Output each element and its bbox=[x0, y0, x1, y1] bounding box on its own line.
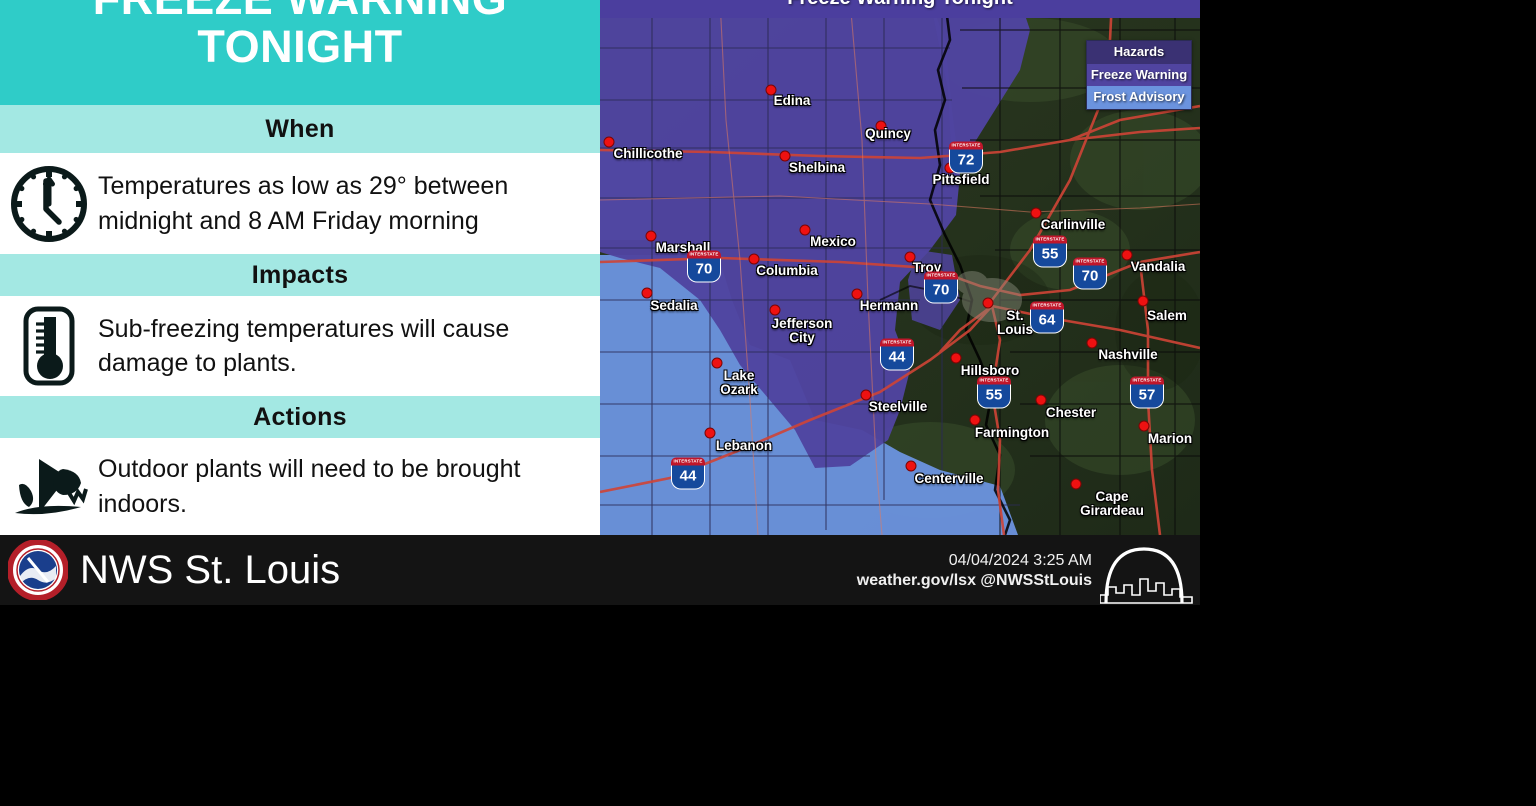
shield-route-number: 55 bbox=[977, 385, 1011, 409]
gateway-arch-icon bbox=[1100, 543, 1200, 605]
city-dot bbox=[770, 305, 781, 316]
alert-headline-band: FREEZE WARNING TONIGHT bbox=[0, 0, 600, 105]
section-heading-when: When bbox=[0, 105, 600, 153]
city-dot bbox=[749, 254, 760, 265]
city-dot bbox=[1036, 395, 1047, 406]
legend-item-frost-advisory[interactable]: Frost Advisory bbox=[1087, 86, 1191, 109]
city-dot bbox=[1071, 479, 1082, 490]
shield-route-number: 57 bbox=[1130, 385, 1164, 409]
city-dot bbox=[970, 415, 981, 426]
footer-meta: 04/04/2024 3:25 AM weather.gov/lsx @NWSS… bbox=[857, 551, 1092, 591]
footer-timestamp: 04/04/2024 3:25 AM bbox=[857, 551, 1092, 571]
thermometer-icon bbox=[0, 296, 98, 396]
map-legend[interactable]: Hazards Freeze Warning Frost Advisory bbox=[1086, 40, 1192, 110]
section-body-actions: Outdoor plants will need to be brought i… bbox=[0, 438, 600, 535]
interstate-shield-icon: INTERSTATE70 bbox=[1073, 258, 1107, 289]
city-dot bbox=[1138, 296, 1149, 307]
shield-banner: INTERSTATE bbox=[1033, 236, 1067, 244]
footer-office-name: NWS St. Louis bbox=[80, 545, 340, 595]
wilting-plant-icon bbox=[0, 438, 98, 535]
city-dot bbox=[1122, 250, 1133, 261]
city-dot bbox=[642, 288, 653, 299]
city-dot bbox=[800, 225, 811, 236]
shield-route-number: 64 bbox=[1030, 310, 1064, 334]
city-dot bbox=[876, 121, 887, 132]
city-dot bbox=[766, 85, 777, 96]
legend-item-freeze-warning[interactable]: Freeze Warning bbox=[1087, 64, 1191, 87]
shield-route-number: 44 bbox=[880, 347, 914, 371]
shield-banner: INTERSTATE bbox=[1073, 258, 1107, 266]
city-dot bbox=[705, 428, 716, 439]
map-title-band: Freeze Warning Tonight bbox=[600, 0, 1200, 18]
shield-banner: INTERSTATE bbox=[687, 251, 721, 259]
interstate-shield-icon: INTERSTATE64 bbox=[1030, 302, 1064, 333]
interstate-shield-icon: INTERSTATE72 bbox=[949, 142, 983, 173]
shield-banner: INTERSTATE bbox=[880, 339, 914, 347]
section-heading-when-label: When bbox=[265, 115, 334, 144]
shield-route-number: 44 bbox=[671, 466, 705, 490]
nws-seal-icon bbox=[8, 540, 68, 600]
legend-title: Hazards bbox=[1087, 41, 1191, 64]
map-title: Freeze Warning Tonight bbox=[787, 0, 1013, 10]
interstate-shield-icon: INTERSTATE44 bbox=[880, 339, 914, 370]
city-dot bbox=[646, 231, 657, 242]
section-text-actions: Outdoor plants will need to be brought i… bbox=[98, 452, 600, 521]
city-dot bbox=[983, 298, 994, 309]
city-dot bbox=[1139, 421, 1150, 432]
shield-route-number: 70 bbox=[687, 259, 721, 283]
interstate-shield-icon: INTERSTATE57 bbox=[1130, 377, 1164, 408]
section-heading-actions-label: Actions bbox=[253, 403, 347, 432]
shield-route-number: 70 bbox=[1073, 266, 1107, 290]
city-dot bbox=[861, 390, 872, 401]
footer-links: weather.gov/lsx @NWSStLouis bbox=[857, 571, 1092, 591]
interstate-shield-icon: INTERSTATE70 bbox=[687, 251, 721, 282]
shield-banner: INTERSTATE bbox=[949, 142, 983, 150]
clock-icon bbox=[0, 153, 98, 254]
shield-route-number: 70 bbox=[924, 280, 958, 304]
section-heading-actions: Actions bbox=[0, 396, 600, 438]
alert-info-panel: FREEZE WARNING TONIGHT When bbox=[0, 0, 600, 535]
city-dot bbox=[906, 461, 917, 472]
shield-banner: INTERSTATE bbox=[1130, 377, 1164, 385]
shield-banner: INTERSTATE bbox=[924, 272, 958, 280]
interstate-shield-icon: INTERSTATE55 bbox=[977, 377, 1011, 408]
section-heading-impacts-label: Impacts bbox=[252, 261, 349, 290]
city-dot bbox=[1087, 338, 1098, 349]
shield-banner: INTERSTATE bbox=[977, 377, 1011, 385]
shield-route-number: 72 bbox=[949, 150, 983, 174]
section-text-when: Temperatures as low as 29° between midni… bbox=[98, 169, 600, 238]
city-dot bbox=[852, 289, 863, 300]
city-dot bbox=[604, 137, 615, 148]
section-text-impacts: Sub-freezing temperatures will cause dam… bbox=[98, 312, 600, 381]
weather-graphic: FREEZE WARNING TONIGHT When bbox=[0, 0, 1536, 806]
section-heading-impacts: Impacts bbox=[0, 254, 600, 296]
interstate-shield-icon: INTERSTATE70 bbox=[924, 272, 958, 303]
section-body-impacts: Sub-freezing temperatures will cause dam… bbox=[0, 296, 600, 396]
city-dot bbox=[1031, 208, 1042, 219]
section-body-when: Temperatures as low as 29° between midni… bbox=[0, 153, 600, 254]
interstate-shield-icon: INTERSTATE44 bbox=[671, 458, 705, 489]
city-dot bbox=[905, 252, 916, 263]
footer-bar: NWS St. Louis 04/04/2024 3:25 AM weather… bbox=[0, 535, 1200, 605]
city-dot bbox=[951, 353, 962, 364]
hazard-map[interactable]: Freeze Warning Tonight Hazards Freeze Wa… bbox=[600, 0, 1200, 535]
city-dot bbox=[712, 358, 723, 369]
alert-headline: FREEZE WARNING TONIGHT bbox=[0, 0, 600, 70]
shield-route-number: 55 bbox=[1033, 244, 1067, 268]
city-dot bbox=[780, 151, 791, 162]
shield-banner: INTERSTATE bbox=[671, 458, 705, 466]
interstate-shield-icon: INTERSTATE55 bbox=[1033, 236, 1067, 267]
shield-banner: INTERSTATE bbox=[1030, 302, 1064, 310]
